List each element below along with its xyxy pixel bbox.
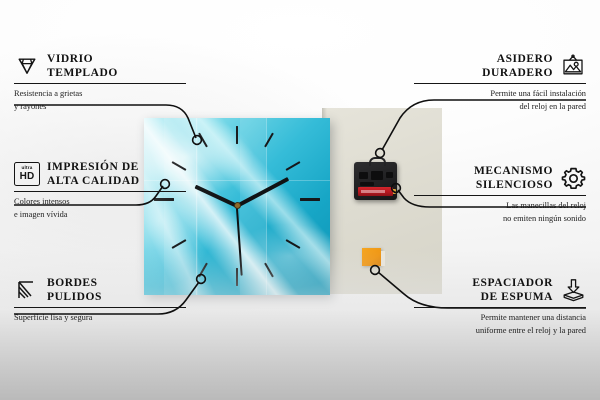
feature-mecanismo-silencioso: MECANISMO SILENCIOSO Las manecillas del … xyxy=(414,164,586,225)
feature-header: BORDES PULIDOS xyxy=(14,276,186,304)
product-infographic: VIDRIO TEMPLADO Resistencia a grietas y … xyxy=(0,0,600,400)
second-hand xyxy=(236,206,242,276)
foam-spacer-arrow-icon xyxy=(560,277,586,303)
feature-asidero-duradero: ASIDERO DURADERO Permite una fácil insta… xyxy=(414,52,586,113)
hands-center-cap xyxy=(234,202,241,209)
feature-description: Colores intensos e imagen vívida xyxy=(14,196,186,220)
feature-title: ASIDERO DURADERO xyxy=(482,52,553,80)
feature-title: MECANISMO SILENCIOSO xyxy=(474,164,553,192)
diamond-icon xyxy=(14,53,40,79)
feature-title: VIDRIO TEMPLADO xyxy=(47,52,118,80)
feature-description: Resistencia a grietas y rayones xyxy=(14,88,186,112)
feature-header: MECANISMO SILENCIOSO xyxy=(414,164,586,192)
ultra-hd-main-text: HD xyxy=(20,172,35,182)
foam-spacer-pad xyxy=(362,248,381,266)
battery-positive-tip xyxy=(393,189,396,194)
minute-hand xyxy=(236,177,289,208)
feature-divider xyxy=(14,191,186,192)
feature-divider xyxy=(14,307,186,308)
feature-description: Permite mantener una distancia uniforme … xyxy=(414,312,586,336)
feature-divider xyxy=(14,83,186,84)
feature-title: ESPACIADOR DE ESPUMA xyxy=(472,276,553,304)
feature-vidrio-templado: VIDRIO TEMPLADO Resistencia a grietas y … xyxy=(14,52,186,113)
ultra-hd-icon: ultra HD xyxy=(14,161,40,187)
feature-divider xyxy=(414,307,586,308)
foam-spacer-side xyxy=(381,251,385,266)
feature-divider xyxy=(414,83,586,84)
feature-espaciador-espuma: ESPACIADOR DE ESPUMA Permite mantener un… xyxy=(414,276,586,337)
feature-header: VIDRIO TEMPLADO xyxy=(14,52,186,80)
hanging-picture-frame-icon xyxy=(560,53,586,79)
hour-hand xyxy=(194,185,237,208)
feature-description: Superficie lisa y segura xyxy=(14,312,186,324)
feature-header: ESPACIADOR DE ESPUMA xyxy=(414,276,586,304)
feature-header: ASIDERO DURADERO xyxy=(414,52,586,80)
feature-header: ultra HD IMPRESIÓN DE ALTA CALIDAD xyxy=(14,160,186,188)
movement-shaft xyxy=(369,157,386,166)
feature-description: Las manecillas del reloj no emiten ningú… xyxy=(414,200,586,224)
feature-impresion-alta-calidad: ultra HD IMPRESIÓN DE ALTA CALIDAD Color… xyxy=(14,160,186,221)
gear-icon xyxy=(560,165,586,191)
feature-title: IMPRESIÓN DE ALTA CALIDAD xyxy=(47,160,140,188)
feature-title: BORDES PULIDOS xyxy=(47,276,102,304)
battery-label-stripe xyxy=(361,190,385,193)
clock-battery xyxy=(358,187,393,196)
feature-bordes-pulidos: BORDES PULIDOS Superficie lisa y segura xyxy=(14,276,186,325)
feature-description: Permite una fácil instalación del reloj … xyxy=(414,88,586,112)
feature-divider xyxy=(414,195,586,196)
clock-movement-box xyxy=(354,162,397,200)
polished-edges-icon xyxy=(14,277,40,303)
